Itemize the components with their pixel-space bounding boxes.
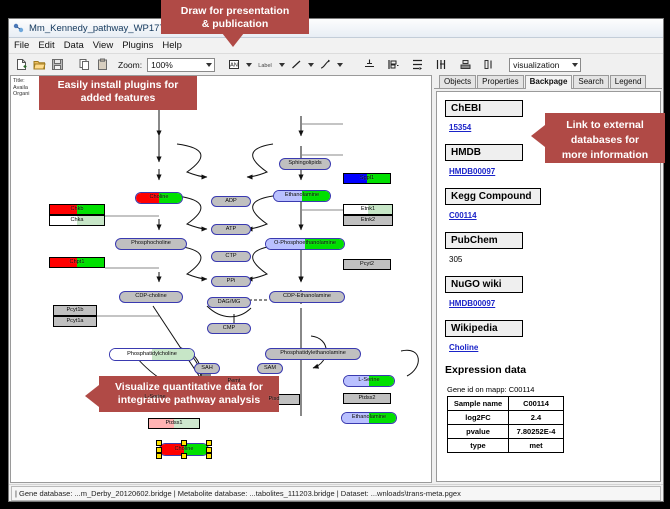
datanode-dropdown-icon[interactable]	[244, 57, 253, 73]
table-row: pvalue7.80252E-4	[448, 425, 564, 439]
tab-properties[interactable]: Properties	[477, 75, 523, 88]
statusbar-inner: | Gene database: ...m_Derby_20120602.bri…	[11, 486, 661, 501]
statusbar: | Gene database: ...m_Derby_20120602.bri…	[9, 484, 663, 501]
table-cell-value: 2.4	[509, 411, 564, 425]
line-icon[interactable]	[288, 57, 304, 73]
zoom-combo[interactable]: 100%	[147, 58, 215, 72]
node-label: Ptdss1	[165, 421, 182, 427]
node-label: SAH	[201, 366, 213, 372]
label-dropdown-icon[interactable]	[277, 57, 286, 73]
align-top-icon[interactable]	[361, 57, 377, 73]
common-height-icon[interactable]	[481, 57, 497, 73]
backpage-section-header: HMDB	[445, 144, 523, 161]
chevron-down-icon[interactable]	[203, 59, 214, 71]
gene-node[interactable]: Pcyt1b	[53, 305, 97, 316]
distribute-vertical-icon[interactable]	[409, 57, 425, 73]
svg-text:Label: Label	[258, 63, 271, 69]
spacer	[445, 311, 660, 318]
backpage-section-header: PubChem	[445, 232, 523, 249]
node-label: L-Serine	[144, 395, 165, 401]
backpage-section-header: Wikipedia	[445, 320, 523, 337]
table-cell-value: C00114	[509, 397, 564, 411]
gene-node[interactable]: Sgpl1	[343, 173, 391, 184]
distribute-horizontal-icon[interactable]	[433, 57, 449, 73]
line-dropdown-icon[interactable]	[306, 57, 315, 73]
callout-plugins: Easily install plugins for added feature…	[39, 75, 197, 110]
callout-draw: Draw for presentation & publication	[161, 0, 309, 34]
callout-draw-arrow-icon	[222, 33, 244, 47]
node-label: Phosphocholine	[131, 241, 171, 247]
backpage-section-header: ChEBI	[445, 100, 523, 117]
datanode-icon[interactable]: AN	[226, 57, 242, 73]
common-width-icon[interactable]	[457, 57, 473, 73]
gene-id-line: Gene id on mapp: C00114	[447, 385, 660, 394]
interaction-dropdown-icon[interactable]	[335, 57, 344, 73]
table-row: Sample nameC00114	[448, 397, 564, 411]
node-label: CDP-Ethanolamine	[283, 294, 331, 300]
tab-search[interactable]: Search	[573, 75, 608, 88]
node-label: O-Phosphoethanolamine	[274, 241, 336, 247]
node-label: PPi	[227, 279, 236, 285]
save-icon[interactable]	[49, 57, 65, 73]
callout-visualize: Visualize quantitative data for integrat…	[99, 376, 279, 412]
gene-node[interactable]: Ptdss1	[148, 418, 200, 429]
node-label: Ethanolamine	[352, 415, 386, 421]
backpage-external-link[interactable]: C00114	[449, 211, 477, 220]
table-cell-key: type	[448, 439, 509, 453]
menu-data[interactable]: Data	[64, 40, 84, 51]
node-label: CDP-choline	[135, 294, 166, 300]
callout-link-arrow-icon	[531, 125, 545, 147]
open-folder-icon[interactable]	[31, 57, 47, 73]
table-cell-key: log2FC	[448, 411, 509, 425]
node-label: Sphingolipids	[288, 161, 321, 167]
visualization-chevron-down-icon[interactable]	[569, 59, 580, 71]
node-label: SAM	[264, 366, 276, 372]
node-label: Etnk1	[361, 207, 375, 213]
pathvisio-window: Mm_Kennedy_pathway_WP1771_45176.gpml Fil…	[8, 18, 664, 502]
backpage-value: 305	[449, 255, 462, 264]
menu-edit[interactable]: Edit	[38, 40, 54, 51]
table-cell-value: met	[509, 439, 564, 453]
node-label: DAG/MG	[218, 300, 241, 306]
node-label: CTP	[225, 254, 236, 260]
node-label: Chkb	[70, 207, 83, 213]
table-cell-key: pvalue	[448, 425, 509, 439]
spacer	[445, 223, 660, 230]
node-label: Phosphatidylcholine	[127, 352, 177, 358]
screenshot-root: Mm_Kennedy_pathway_WP1771_45176.gpml Fil…	[0, 0, 670, 509]
new-file-icon[interactable]	[13, 57, 29, 73]
visualization-value: visualization	[513, 60, 559, 70]
align-left-icon[interactable]	[385, 57, 401, 73]
gene-node[interactable]: Chpt1	[49, 257, 105, 268]
node-label: Sgpl1	[360, 176, 374, 182]
node-label: Chka	[70, 218, 83, 224]
statusbar-text: | Gene database: ...m_Derby_20120602.bri…	[15, 489, 461, 498]
callout-link: Link to external databases for more info…	[545, 113, 665, 163]
zoom-value: 100%	[151, 60, 173, 70]
menu-plugins[interactable]: Plugins	[122, 40, 153, 51]
node-label: Etnk2	[361, 218, 375, 224]
backpage-section: Kegg CompoundC00114	[445, 186, 660, 230]
table-cell-value: 7.80252E-4	[509, 425, 564, 439]
node-label: Pcyt1b	[66, 308, 83, 314]
menu-view[interactable]: View	[93, 40, 113, 51]
gene-node[interactable]: Pcyt1a	[53, 316, 97, 327]
node-label: ATP	[226, 227, 236, 233]
gene-node[interactable]: Chka	[49, 215, 105, 226]
paste-icon[interactable]	[94, 57, 110, 73]
spacer	[445, 179, 660, 186]
gene-node[interactable]: Etnk2	[343, 215, 393, 226]
tab-objects[interactable]: Objects	[439, 75, 476, 88]
svg-text:AN: AN	[230, 63, 238, 69]
gene-node[interactable]: Pcyt2	[343, 259, 391, 270]
gene-node[interactable]: Etnk1	[343, 204, 393, 215]
tab-backpage[interactable]: Backpage	[525, 75, 573, 89]
node-label: Pisd	[269, 397, 280, 403]
selection-handles[interactable]	[11, 76, 431, 482]
expression-data-title: Expression data	[445, 364, 660, 376]
backpage-section: NuGO wikiHMDB00097	[445, 274, 660, 318]
node-label: ADP	[225, 199, 237, 205]
backpage-section-header: Kegg Compound	[445, 188, 541, 205]
tab-legend[interactable]: Legend	[610, 75, 647, 88]
callout-visualize-arrow-icon	[85, 385, 99, 407]
backpage-section-header: NuGO wiki	[445, 276, 523, 293]
table-row: log2FC2.4	[448, 411, 564, 425]
backpage-external-link[interactable]: Choline	[449, 343, 478, 352]
menu-help[interactable]: Help	[162, 40, 182, 51]
backpage-section: PubChem305	[445, 230, 660, 274]
toolbar: Zoom: 100% AN Label	[9, 54, 663, 76]
node-label: Chpt1	[70, 260, 85, 266]
interaction-icon[interactable]	[317, 57, 333, 73]
visualization-combo[interactable]: visualization	[509, 58, 581, 72]
menubar: File Edit Data View Plugins Help	[9, 38, 663, 54]
spacer	[445, 355, 660, 362]
backpage-external-link[interactable]: HMDB00097	[449, 299, 495, 308]
window-titlebar: Mm_Kennedy_pathway_WP1771_45176.gpml	[9, 19, 663, 38]
menu-file[interactable]: File	[14, 40, 29, 51]
expression-table: Sample nameC00114log2FC2.4pvalue7.80252E…	[447, 396, 564, 453]
gene-node[interactable]: Chkb	[49, 204, 105, 215]
node-label: Choline	[175, 447, 194, 453]
table-row: typemet	[448, 439, 564, 453]
node-label: Pcyt2	[360, 262, 374, 268]
backpage-external-link[interactable]: 15354	[449, 123, 471, 132]
node-label: L-Serine	[358, 378, 379, 384]
label-icon[interactable]: Label	[255, 57, 275, 73]
spacer	[445, 267, 660, 274]
node-label: Ptdss2	[358, 396, 375, 402]
gene-node[interactable]: Ptdss2	[343, 393, 391, 404]
copy-icon[interactable]	[76, 57, 92, 73]
node-label: Pcyt1a	[66, 319, 83, 325]
node-label: Phosphatidylethanolamine	[280, 351, 346, 357]
backpage-external-link[interactable]: HMDB00097	[449, 167, 495, 176]
node-label: Pemt	[227, 379, 240, 385]
pathvisio-icon	[13, 23, 24, 34]
sidebar-tabs: Objects Properties Backpage Search Legen…	[434, 75, 662, 89]
node-label: Choline	[150, 195, 169, 201]
table-cell-key: Sample name	[448, 397, 509, 411]
node-label: CMP	[223, 326, 235, 332]
backpage-section: WikipediaCholine	[445, 318, 660, 362]
zoom-label: Zoom:	[118, 60, 142, 70]
pathway-canvas[interactable]: Title: Availa Organi	[10, 75, 432, 483]
node-label: Ethanolamine	[285, 193, 319, 199]
